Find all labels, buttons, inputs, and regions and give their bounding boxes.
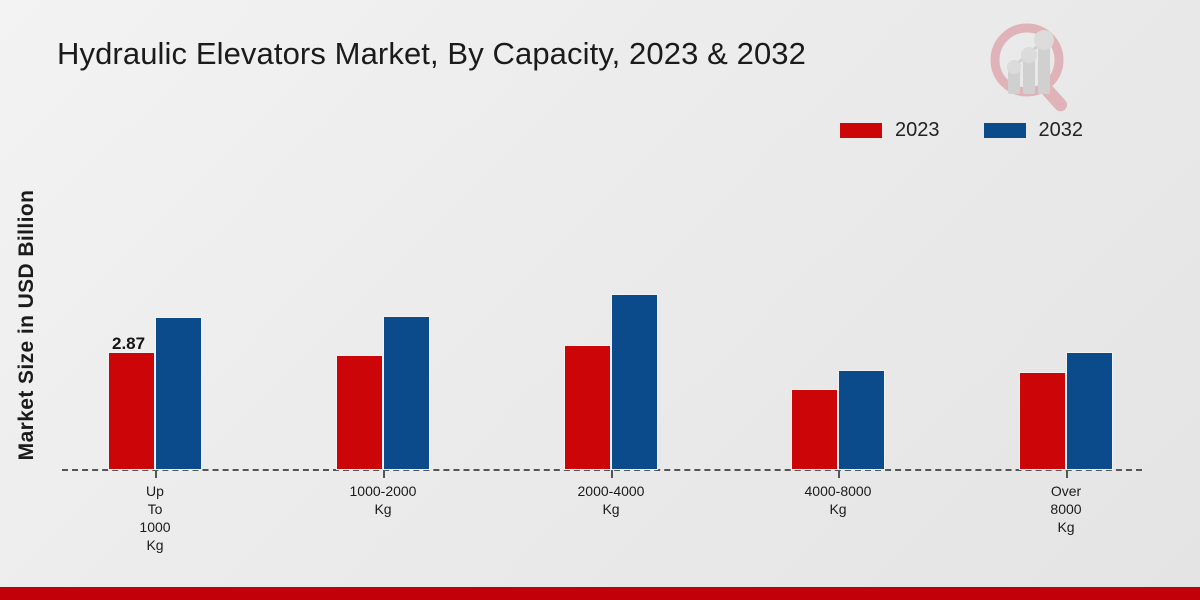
bar-2023-2000-4000-kg[interactable]: [564, 345, 611, 470]
x-category-label-1: 1000-2000 Kg: [303, 482, 463, 518]
x-category-label-3: 4000-8000 Kg: [758, 482, 918, 518]
bar-2032-4000-8000-kg[interactable]: [838, 370, 885, 470]
bar-2032-1000-2000-kg[interactable]: [383, 316, 430, 470]
chart-canvas: Hydraulic Elevators Market, By Capacity,…: [0, 0, 1200, 600]
cat-line: 1000: [75, 518, 235, 536]
cat-line: Kg: [531, 500, 691, 518]
x-tick-4: [1066, 470, 1068, 478]
cat-line: 8000: [986, 500, 1146, 518]
cat-line: Kg: [758, 500, 918, 518]
x-category-label-0: Up To 1000 Kg: [75, 482, 235, 554]
cat-line: 1000-2000: [303, 482, 463, 500]
x-tick-3: [838, 470, 840, 478]
x-tick-0: [155, 470, 157, 478]
x-tick-1: [383, 470, 385, 478]
footer-accent-bar: [0, 587, 1200, 600]
cat-line: Up: [75, 482, 235, 500]
cat-line: Over: [986, 482, 1146, 500]
x-tick-2: [611, 470, 613, 478]
cat-line: 4000-8000: [758, 482, 918, 500]
cat-line: Kg: [986, 518, 1146, 536]
bar-2032-over-8000-kg[interactable]: [1066, 352, 1113, 470]
cat-line: Kg: [303, 500, 463, 518]
cat-line: To: [75, 500, 235, 518]
bar-value-label-2023-up-to-1000-kg: 2.87: [112, 334, 145, 354]
plot-area: 2.87 Up To 1000 Kg 1000-2000 Kg 2000-400…: [0, 0, 1200, 600]
bar-2023-4000-8000-kg[interactable]: [791, 389, 838, 470]
bar-2023-up-to-1000-kg[interactable]: [108, 352, 155, 470]
cat-line: 2000-4000: [531, 482, 691, 500]
x-category-label-2: 2000-4000 Kg: [531, 482, 691, 518]
x-category-label-4: Over 8000 Kg: [986, 482, 1146, 536]
bar-2023-over-8000-kg[interactable]: [1019, 372, 1066, 470]
bar-2032-2000-4000-kg[interactable]: [611, 294, 658, 470]
cat-line: Kg: [75, 536, 235, 554]
bar-2032-up-to-1000-kg[interactable]: [155, 317, 202, 470]
bar-2023-1000-2000-kg[interactable]: [336, 355, 383, 470]
